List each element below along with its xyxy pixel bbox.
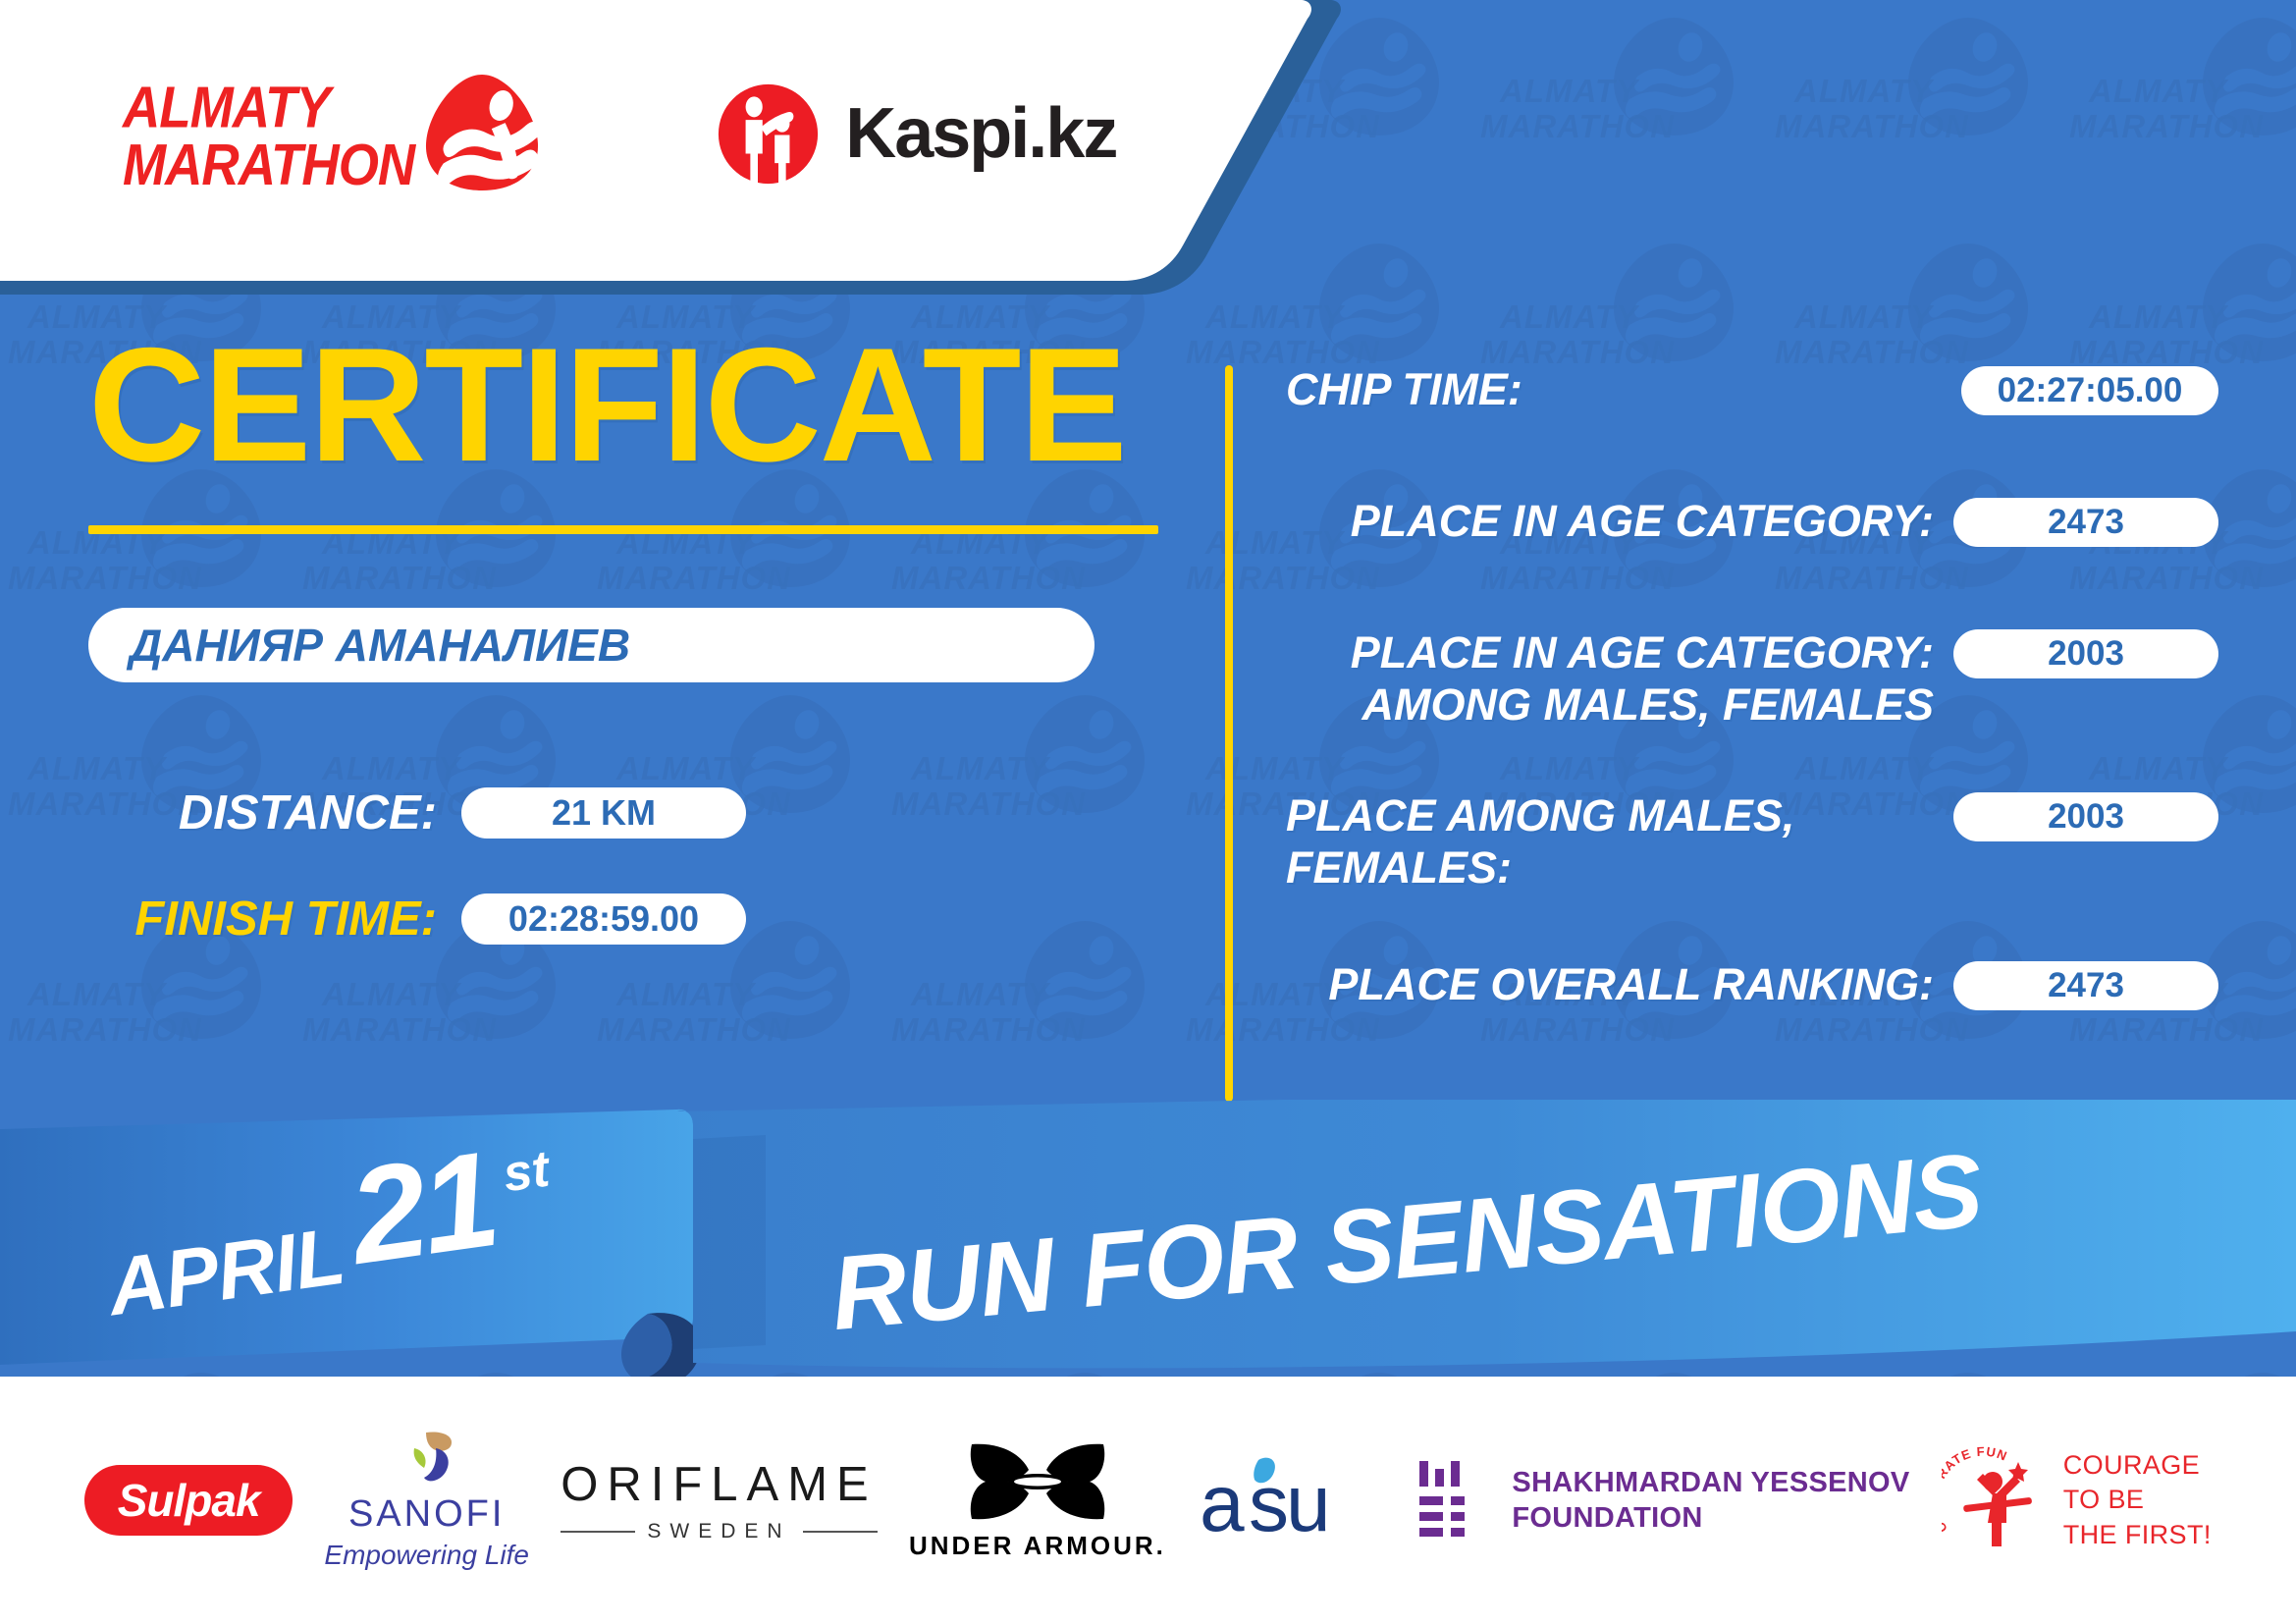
header-logos: ALMATY MARATHON [0, 0, 1217, 267]
under-armour-icon [964, 1440, 1111, 1523]
sponsor-yessenov-foundation: SHAKHMARDAN YESSENOV FOUNDATION [1415, 1459, 1909, 1542]
asu-logo-icon: a su [1198, 1446, 1384, 1554]
stat-row-place-overall: PLACE OVERALL RANKING: 2473 [1286, 958, 2218, 1021]
sponsor-bar: Sulpak SANOFI Empowering Life ORIFLAME S… [0, 1377, 2296, 1624]
yessenov-line-1: SHAKHMARDAN YESSENOV [1512, 1465, 1909, 1500]
place-among-gender-label: PLACE AMONG MALES, FEMALES: [1286, 789, 1953, 893]
svg-text:a: a [1200, 1459, 1245, 1548]
yessenov-line-2: FOUNDATION [1512, 1500, 1909, 1536]
sulpak-logo: Sulpak [84, 1465, 293, 1536]
yessenov-mark-icon [1415, 1459, 1486, 1542]
finish-time-value: 02:28:59.00 [461, 893, 746, 945]
left-column: CERTIFICATE ДАНИЯР АМАНАЛИЕВ DISTANCE: 2… [69, 324, 1207, 947]
sponsor-oriflame: ORIFLAME SWEDEN [561, 1457, 877, 1543]
chip-time-label: CHIP TIME: [1286, 363, 1961, 415]
courage-line-2: TO BE [2063, 1483, 2212, 1517]
stat-row-chip-time: CHIP TIME: 02:27:05.00 [1286, 363, 2218, 426]
chip-time-value: 02:27:05.00 [1961, 366, 2218, 415]
under-armour-wordmark: UNDER ARMOUR. [909, 1531, 1166, 1561]
kaspi-logo: Kaspi.kz [717, 82, 1116, 186]
oriflame-sub-row: SWEDEN [561, 1520, 877, 1543]
courage-line-1: COURAGE [2063, 1448, 2212, 1483]
place-age-category-gender-label: PLACE IN AGE CATEGORY: AMONG MALES, FEMA… [1286, 626, 1953, 731]
kaspi-wordmark: Kaspi.kz [845, 93, 1116, 174]
sponsor-asu: a su [1198, 1446, 1384, 1554]
event-day: 21 [344, 1138, 502, 1278]
place-age-category-label: PLACE IN AGE CATEGORY: [1286, 495, 1953, 547]
sponsor-sanofi: SANOFI Empowering Life [324, 1431, 529, 1571]
sanofi-mark-icon [397, 1431, 457, 1488]
sanofi-tagline: Empowering Life [324, 1540, 529, 1571]
marathon-line: MARATHON [123, 137, 414, 194]
almaty-line: ALMATY [123, 81, 414, 137]
athlete-name-field: ДАНИЯР АМАНАЛИЕВ [88, 608, 1095, 682]
almaty-marathon-wordmark: ALMATY MARATHON [123, 81, 414, 194]
finish-time-label: FINISH TIME: [88, 892, 437, 947]
almaty-marathon-runner-icon [424, 73, 540, 192]
oriflame-rule-left [561, 1531, 635, 1533]
sponsor-courage-fund: CORPORATE FUND COURAGE TO BE THE FIRST! [1942, 1446, 2212, 1554]
stat-row-place-among-gender: PLACE AMONG MALES, FEMALES: 2003 [1286, 789, 2218, 893]
place-overall-value: 2473 [1953, 961, 2218, 1010]
finish-time-row: FINISH TIME: 02:28:59.00 [88, 892, 1207, 947]
certificate-page: ALMATY MARATHON ALMATY MARATHON [0, 0, 2296, 1624]
place-age-category-gender-value: 2003 [1953, 629, 2218, 678]
kaspi-people-icon [717, 82, 820, 186]
title-underline [88, 525, 1158, 534]
oriflame-wordmark: ORIFLAME [561, 1457, 877, 1512]
oriflame-rule-right [803, 1531, 878, 1533]
place-among-gender-value: 2003 [1953, 792, 2218, 841]
stat-row-place-age-category: PLACE IN AGE CATEGORY: 2473 [1286, 495, 2218, 558]
page-title: CERTIFICATE [69, 324, 1207, 486]
yessenov-wordmark: SHAKHMARDAN YESSENOV FOUNDATION [1512, 1465, 1909, 1537]
sponsor-sulpak: Sulpak [84, 1465, 293, 1536]
distance-row: DISTANCE: 21 KM [88, 785, 1207, 840]
courage-line-3: THE FIRST! [2063, 1518, 2212, 1552]
courage-wordmark: COURAGE TO BE THE FIRST! [2063, 1448, 2212, 1551]
courage-runner-icon: CORPORATE FUND [1942, 1446, 2048, 1554]
vertical-divider [1225, 365, 1233, 1102]
stat-row-place-age-category-gender: PLACE IN AGE CATEGORY: AMONG MALES, FEMA… [1286, 626, 2218, 731]
sanofi-wordmark: SANOFI [324, 1493, 529, 1536]
event-day-suffix: st [500, 1140, 553, 1205]
distance-value: 21 KM [461, 787, 746, 839]
oriflame-sweden: SWEDEN [647, 1520, 790, 1543]
place-age-category-value: 2473 [1953, 498, 2218, 547]
stats-column: CHIP TIME: 02:27:05.00 PLACE IN AGE CATE… [1286, 363, 2218, 1066]
sponsor-under-armour: UNDER ARMOUR. [909, 1440, 1166, 1561]
distance-label: DISTANCE: [88, 785, 437, 840]
place-overall-label: PLACE OVERALL RANKING: [1286, 958, 1953, 1010]
almaty-marathon-logo: ALMATY MARATHON [123, 73, 540, 194]
